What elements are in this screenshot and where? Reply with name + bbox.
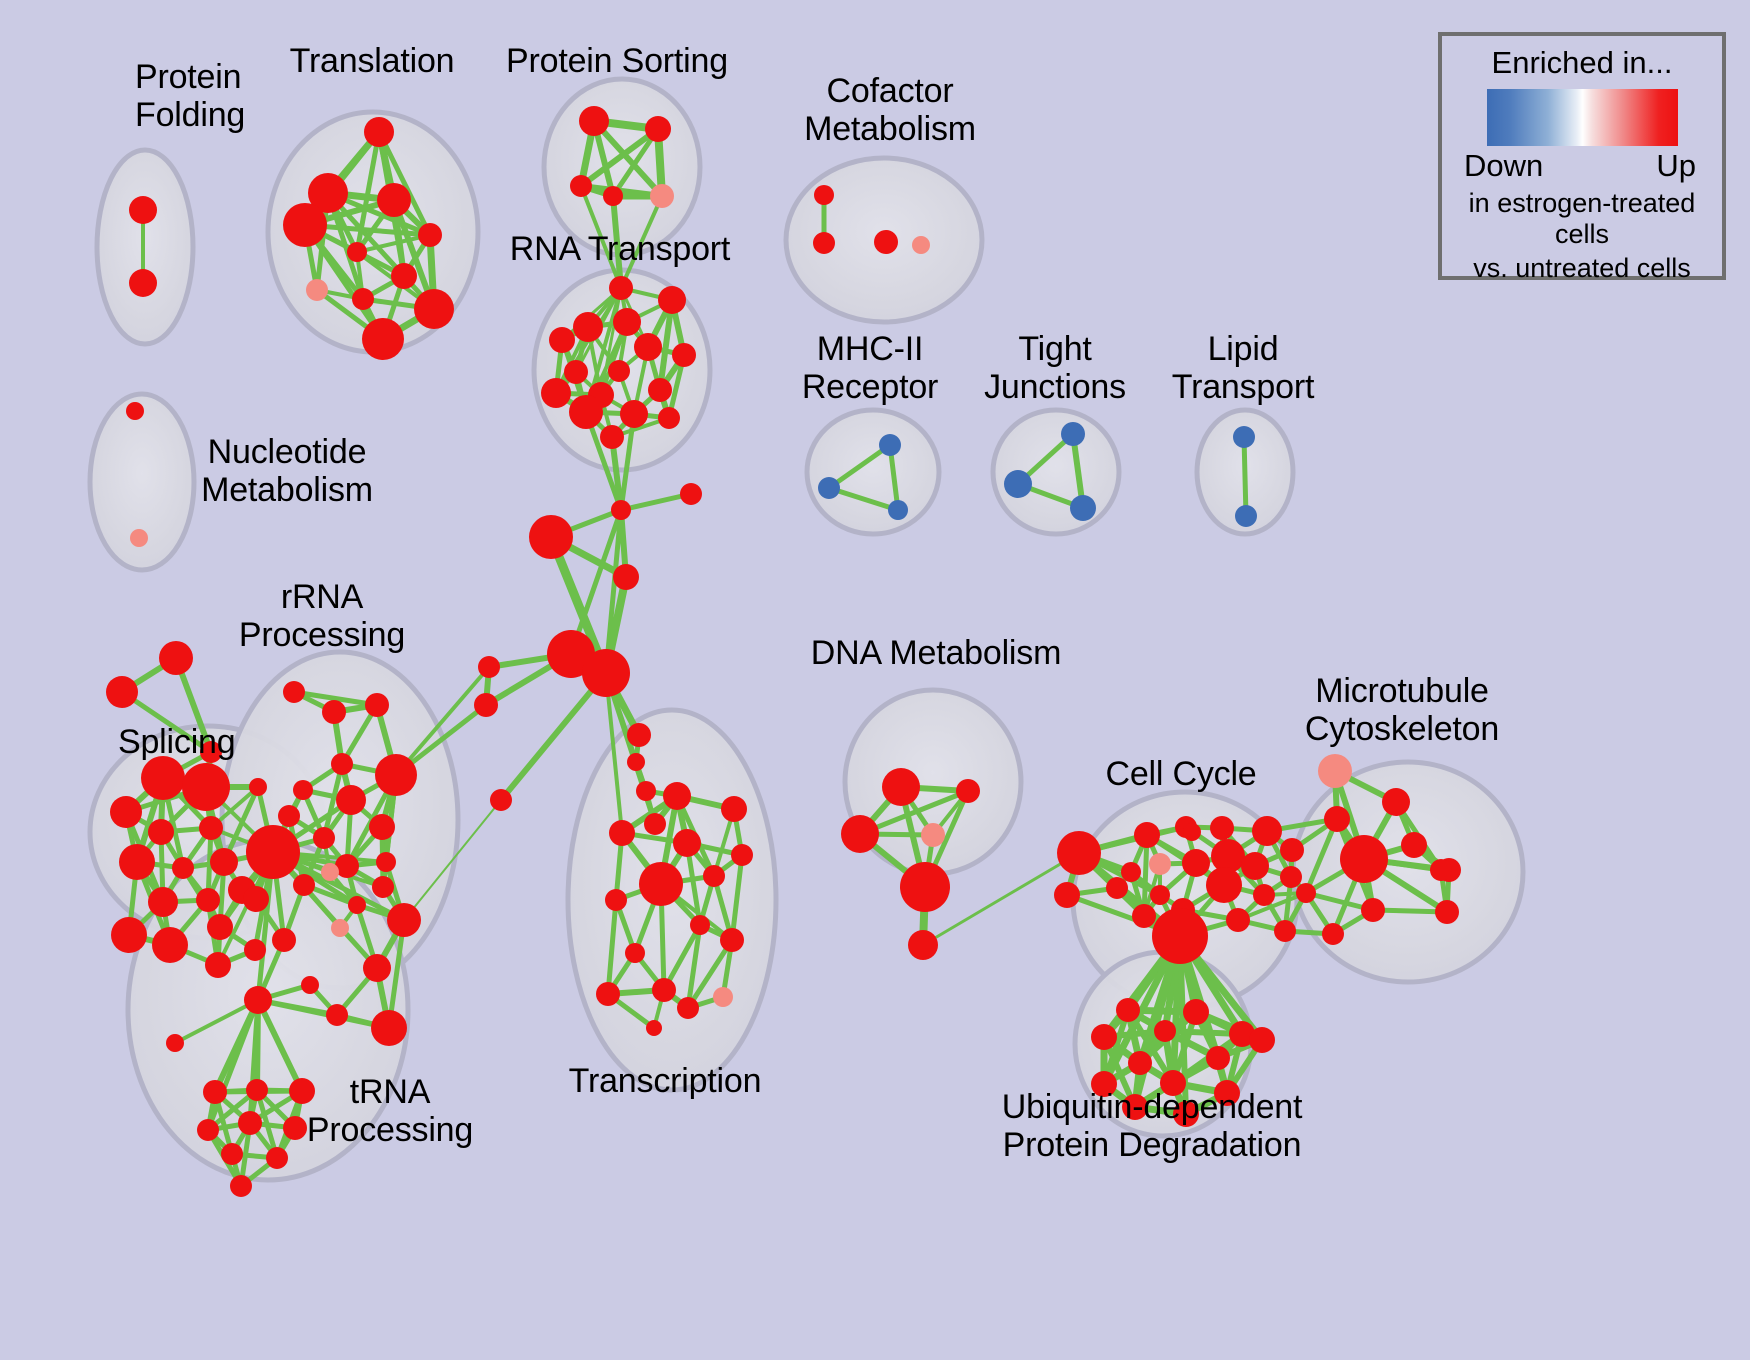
network-node[interactable] <box>541 378 571 408</box>
network-node[interactable] <box>205 952 231 978</box>
network-node[interactable] <box>1150 885 1170 905</box>
network-node[interactable] <box>210 848 238 876</box>
network-node[interactable] <box>1252 816 1282 846</box>
network-node[interactable] <box>608 360 630 382</box>
network-node[interactable] <box>1132 904 1156 928</box>
network-node[interactable] <box>306 279 328 301</box>
network-node[interactable] <box>375 754 417 796</box>
legend-title: Enriched in... <box>1442 45 1722 81</box>
network-node[interactable] <box>129 269 157 297</box>
network-node[interactable] <box>197 1119 219 1141</box>
network-node[interactable] <box>1382 788 1410 816</box>
network-node[interactable] <box>148 819 174 845</box>
network-node[interactable] <box>609 276 633 300</box>
network-node[interactable] <box>244 986 272 1014</box>
network-node[interactable] <box>1206 867 1242 903</box>
network-node[interactable] <box>207 914 233 940</box>
network-node[interactable] <box>582 649 630 697</box>
legend-endpoints: Down Up <box>1464 148 1700 186</box>
network-node[interactable] <box>322 700 346 724</box>
network-node[interactable] <box>921 823 945 847</box>
network-node[interactable] <box>564 360 588 384</box>
cluster-label-microtubule-cytoskeleton: Microtubule Cytoskeleton <box>1305 672 1499 748</box>
network-node[interactable] <box>603 186 623 206</box>
network-node[interactable] <box>627 723 651 747</box>
edge <box>1244 437 1246 516</box>
network-node[interactable] <box>956 779 980 803</box>
cluster-label-lipid-transport: Lipid Transport <box>1172 330 1314 406</box>
network-node[interactable] <box>377 183 411 217</box>
cluster-label-rrna-processing: rRNA Processing <box>239 578 405 654</box>
network-node[interactable] <box>1241 852 1269 880</box>
network-node[interactable] <box>814 185 834 205</box>
cluster-label-transcription: Transcription <box>569 1062 762 1100</box>
network-node[interactable] <box>648 378 672 402</box>
network-node[interactable] <box>625 943 645 963</box>
network-node[interactable] <box>639 862 683 906</box>
network-node[interactable] <box>490 789 512 811</box>
network-node[interactable] <box>1182 849 1210 877</box>
network-node[interactable] <box>1296 883 1316 903</box>
network-node[interactable] <box>644 813 666 835</box>
cluster-label-rna-transport: RNA Transport <box>510 230 730 268</box>
network-node[interactable] <box>1280 866 1302 888</box>
network-node[interactable] <box>391 263 417 289</box>
network-node[interactable] <box>1057 831 1101 875</box>
network-node[interactable] <box>1274 920 1296 942</box>
network-node[interactable] <box>221 1143 243 1165</box>
network-node[interactable] <box>474 693 498 717</box>
network-node[interactable] <box>658 407 680 429</box>
network-node[interactable] <box>336 785 366 815</box>
network-node[interactable] <box>841 815 879 853</box>
network-node[interactable] <box>130 529 148 547</box>
network-node[interactable] <box>166 1034 184 1052</box>
network-node[interactable] <box>620 400 648 428</box>
network-node[interactable] <box>331 753 353 775</box>
legend-color-bar <box>1487 89 1678 146</box>
network-node[interactable] <box>646 1020 662 1036</box>
network-node[interactable] <box>1054 882 1080 908</box>
network-node[interactable] <box>636 781 656 801</box>
cluster-label-translation: Translation <box>290 42 455 80</box>
network-node[interactable] <box>1154 1020 1176 1042</box>
network-node[interactable] <box>912 236 930 254</box>
network-node[interactable] <box>1361 898 1385 922</box>
network-node[interactable] <box>1116 998 1140 1022</box>
network-node[interactable] <box>609 820 635 846</box>
network-node[interactable] <box>1061 422 1085 446</box>
network-node[interactable] <box>658 286 686 314</box>
network-node[interactable] <box>106 676 138 708</box>
network-node[interactable] <box>1324 806 1350 832</box>
network-node[interactable] <box>243 886 269 912</box>
network-node[interactable] <box>600 425 624 449</box>
network-node[interactable] <box>1280 838 1304 862</box>
enrichment-network-figure: Protein FoldingTranslationProtein Sortin… <box>0 0 1750 1360</box>
network-node[interactable] <box>1149 853 1171 875</box>
network-node[interactable] <box>387 903 421 937</box>
network-node[interactable] <box>882 768 920 806</box>
network-node[interactable] <box>246 825 300 879</box>
network-node[interactable] <box>129 196 157 224</box>
network-node[interactable] <box>1235 505 1257 527</box>
network-node[interactable] <box>414 289 454 329</box>
network-node[interactable] <box>731 844 753 866</box>
network-node[interactable] <box>119 844 155 880</box>
network-node[interactable] <box>313 827 335 849</box>
network-node[interactable] <box>283 681 305 703</box>
cluster-label-splicing: Splicing <box>118 723 235 761</box>
network-node[interactable] <box>278 805 300 827</box>
network-node[interactable] <box>347 242 367 262</box>
network-node[interactable] <box>1233 426 1255 448</box>
network-node[interactable] <box>362 318 404 360</box>
legend-caption-line-1: in estrogen-treated cells <box>1442 188 1722 251</box>
network-node[interactable] <box>1106 877 1128 899</box>
cluster-hull-protein-sorting <box>544 79 700 255</box>
network-node[interactable] <box>283 1116 307 1140</box>
network-node[interactable] <box>376 852 396 872</box>
network-node[interactable] <box>182 763 230 811</box>
network-node[interactable] <box>293 780 313 800</box>
network-node[interactable] <box>813 232 835 254</box>
network-node[interactable] <box>196 888 220 912</box>
network-node[interactable] <box>1430 859 1452 881</box>
network-node[interactable] <box>645 116 671 142</box>
network-node[interactable] <box>900 862 950 912</box>
network-node[interactable] <box>720 928 744 952</box>
network-node[interactable] <box>680 483 702 505</box>
legend-low-label: Down <box>1464 148 1543 184</box>
network-node[interactable] <box>650 184 674 208</box>
network-node[interactable] <box>579 106 609 136</box>
network-node[interactable] <box>172 857 194 879</box>
network-node[interactable] <box>1183 999 1209 1025</box>
network-node[interactable] <box>348 896 366 914</box>
network-node[interactable] <box>369 814 395 840</box>
network-node[interactable] <box>663 782 691 810</box>
network-node[interactable] <box>1152 908 1208 964</box>
network-node[interactable] <box>249 778 267 796</box>
network-node[interactable] <box>570 175 592 197</box>
network-node[interactable] <box>301 976 319 994</box>
cluster-hull-mhc-ii-receptor <box>807 410 939 534</box>
network-node[interactable] <box>199 816 223 840</box>
legend-high-label: Up <box>1656 148 1696 184</box>
network-node[interactable] <box>721 796 747 822</box>
network-node[interactable] <box>634 333 662 361</box>
network-node[interactable] <box>152 927 188 963</box>
network-node[interactable] <box>879 434 901 456</box>
network-node[interactable] <box>111 917 147 953</box>
network-node[interactable] <box>331 919 349 937</box>
network-node[interactable] <box>246 1079 268 1101</box>
network-node[interactable] <box>690 915 710 935</box>
network-node[interactable] <box>613 308 641 336</box>
network-node[interactable] <box>529 515 573 559</box>
cluster-label-ubiquitin-protein-degradation: Ubiquitin-dependent Protein Degradation <box>1002 1088 1303 1164</box>
network-node[interactable] <box>159 641 193 675</box>
network-node[interactable] <box>371 1010 407 1046</box>
network-node[interactable] <box>613 564 639 590</box>
cluster-label-cell-cycle: Cell Cycle <box>1105 755 1256 793</box>
network-node[interactable] <box>1128 1051 1152 1075</box>
network-node[interactable] <box>364 117 394 147</box>
network-node[interactable] <box>605 889 627 911</box>
network-node[interactable] <box>478 656 500 678</box>
network-node[interactable] <box>677 997 699 1019</box>
network-node[interactable] <box>110 796 142 828</box>
network-node[interactable] <box>1318 754 1352 788</box>
network-node[interactable] <box>1249 1027 1275 1053</box>
network-node[interactable] <box>1401 832 1427 858</box>
network-node[interactable] <box>418 223 442 247</box>
network-node[interactable] <box>1253 884 1275 906</box>
cluster-label-nucleotide-metabolism: Nucleotide Metabolism <box>201 433 373 509</box>
network-node[interactable] <box>126 402 144 420</box>
network-node[interactable] <box>627 753 645 771</box>
network-node[interactable] <box>713 987 733 1007</box>
network-node[interactable] <box>596 982 620 1006</box>
cluster-label-dna-metabolism: DNA Metabolism <box>811 634 1061 672</box>
network-node[interactable] <box>1121 862 1141 882</box>
legend-box: Enriched in... Down Up in estrogen-treat… <box>1438 32 1726 280</box>
network-node[interactable] <box>141 756 185 800</box>
network-node[interactable] <box>818 477 840 499</box>
network-node[interactable] <box>1206 1046 1230 1070</box>
network-node[interactable] <box>1070 495 1096 521</box>
cluster-label-cofactor-metabolism: Cofactor Metabolism <box>804 72 976 148</box>
network-node[interactable] <box>266 1147 288 1169</box>
network-node[interactable] <box>365 693 389 717</box>
network-node[interactable] <box>1435 900 1459 924</box>
network-node[interactable] <box>238 1111 262 1135</box>
network-node[interactable] <box>1183 823 1201 841</box>
network-node[interactable] <box>1340 835 1388 883</box>
network-node[interactable] <box>326 1004 348 1026</box>
network-node[interactable] <box>352 288 374 310</box>
network-node[interactable] <box>283 203 327 247</box>
legend-caption-line-2: vs. untreated cells <box>1442 253 1722 284</box>
network-node[interactable] <box>1091 1024 1117 1050</box>
network-node[interactable] <box>703 865 725 887</box>
cluster-label-protein-sorting: Protein Sorting <box>506 42 728 80</box>
network-node[interactable] <box>272 928 296 952</box>
network-node[interactable] <box>321 863 339 881</box>
network-node[interactable] <box>1210 816 1234 840</box>
network-node[interactable] <box>203 1080 227 1104</box>
network-node[interactable] <box>888 500 908 520</box>
network-node[interactable] <box>908 930 938 960</box>
cluster-label-tight-junctions: Tight Junctions <box>984 330 1126 406</box>
network-node[interactable] <box>1226 908 1250 932</box>
network-node[interactable] <box>673 829 701 857</box>
cluster-label-protein-folding: Protein Folding <box>135 58 245 134</box>
network-node[interactable] <box>569 395 603 429</box>
network-node[interactable] <box>230 1175 252 1197</box>
network-node[interactable] <box>1134 822 1160 848</box>
network-node[interactable] <box>1004 470 1032 498</box>
network-node[interactable] <box>363 954 391 982</box>
cluster-label-mhc-ii-receptor: MHC-II Receptor <box>802 330 938 406</box>
network-node[interactable] <box>652 978 676 1002</box>
network-node[interactable] <box>148 887 178 917</box>
network-node[interactable] <box>549 327 575 353</box>
network-node[interactable] <box>573 312 603 342</box>
network-node[interactable] <box>372 876 394 898</box>
network-node[interactable] <box>672 343 696 367</box>
network-node[interactable] <box>244 939 266 961</box>
cluster-label-trna-processing: tRNA Processing <box>307 1073 473 1149</box>
network-node[interactable] <box>611 500 631 520</box>
network-node[interactable] <box>293 874 315 896</box>
network-node[interactable] <box>874 230 898 254</box>
network-node[interactable] <box>1322 923 1344 945</box>
